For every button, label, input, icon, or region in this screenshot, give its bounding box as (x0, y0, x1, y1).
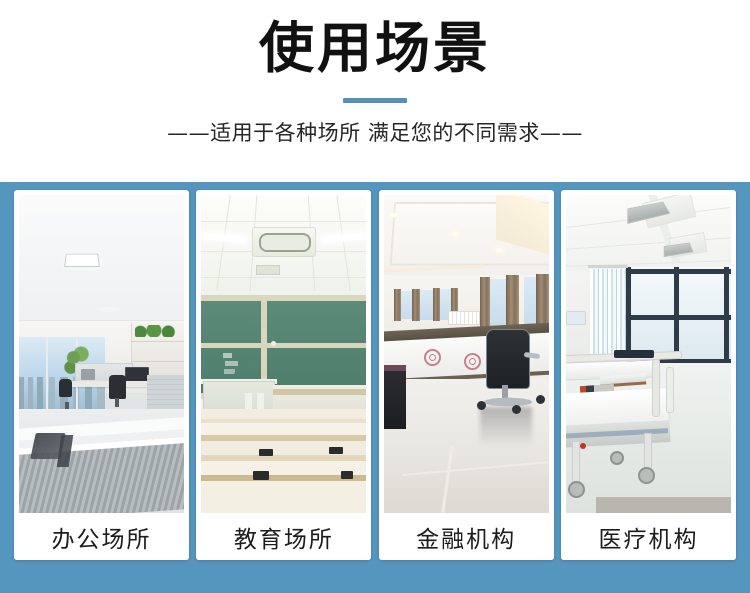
chalkboard-divider (201, 343, 366, 348)
office-photo (19, 195, 184, 513)
page-subtitle: ——适用于各种场所 满足您的不同需求—— (0, 103, 750, 146)
chair-caster (512, 405, 521, 414)
bed-caster-wheel (568, 481, 585, 498)
window-curtain (506, 275, 519, 331)
bed-release-lever (580, 443, 586, 449)
ceiling-panel-light-icon (64, 254, 100, 267)
scenarios-band: 办公场所 (0, 182, 750, 593)
bank-window (420, 290, 433, 320)
office-chair-icon (486, 329, 530, 389)
scenario-card-medical[interactable]: 医疗机构 (561, 190, 736, 560)
window-frame-bar (724, 267, 729, 365)
bank-window (489, 279, 507, 327)
student-desks (201, 409, 366, 513)
scenario-label-finance: 金融机构 (379, 513, 554, 560)
bed-caster-wheel (638, 467, 655, 484)
shelf-plants-icon (135, 325, 180, 337)
desk-fitting (259, 449, 273, 456)
floor-threshold (596, 497, 731, 513)
scenario-card-list: 办公场所 (14, 190, 736, 560)
window-mullion (46, 337, 48, 409)
desk-fitting (341, 471, 353, 479)
scenario-card-education[interactable]: 教育场所 (196, 190, 371, 560)
window-curtain (412, 289, 420, 321)
bed-caster-wheel (610, 451, 624, 465)
desk-fitting (253, 471, 269, 480)
chair-base (480, 397, 536, 407)
radiator-icon (448, 311, 480, 325)
curtain-rail (588, 265, 628, 268)
scenario-label-medical: 医疗机构 (561, 513, 736, 560)
downlight-icon (390, 213, 397, 217)
floor-reflection (480, 407, 532, 447)
air-conditioner-grill (259, 233, 311, 252)
monitor-icon (81, 369, 95, 380)
scenario-label-office: 办公场所 (14, 513, 189, 560)
window-curtain (480, 277, 490, 329)
classroom-photo (201, 195, 366, 513)
shelf-board (131, 341, 184, 342)
page-header: 使用场景 ——适用于各种场所 满足您的不同需求—— (0, 0, 750, 182)
bed-headboard-detail (614, 350, 654, 358)
wall-trim-strip (273, 389, 366, 395)
scenario-label-education: 教育场所 (196, 513, 371, 560)
atm-machine-icon (384, 371, 406, 429)
bank-window (400, 291, 412, 319)
ceiling-light-reflection (97, 307, 121, 312)
scenario-card-office[interactable]: 办公场所 (14, 190, 189, 560)
bed-side-rail (652, 359, 660, 417)
chalk-writing (223, 351, 255, 377)
office-chair-icon (109, 375, 126, 399)
window-curtain (394, 289, 401, 321)
scenario-card-finance[interactable]: 金融机构 (379, 190, 554, 560)
window-curtain (433, 288, 440, 321)
chair-caster (536, 395, 545, 404)
bank-photo (384, 195, 549, 513)
bed-side-rail (666, 367, 674, 413)
projector-icon (256, 265, 280, 275)
ceiling-tile-line (201, 277, 366, 278)
downlight-icon (452, 232, 459, 236)
page-title: 使用场景 (0, 0, 750, 80)
chair-caster (477, 401, 486, 410)
desk-fitting (329, 447, 343, 454)
office-chair-icon (59, 379, 72, 397)
downlight-icon (496, 248, 503, 252)
hospital-photo (566, 195, 731, 513)
shelf-board (131, 361, 184, 362)
use-scenarios-page: 使用场景 ——适用于各种场所 满足您的不同需求—— (0, 0, 750, 593)
office-ceiling (19, 195, 184, 320)
wall-panel (566, 311, 586, 325)
